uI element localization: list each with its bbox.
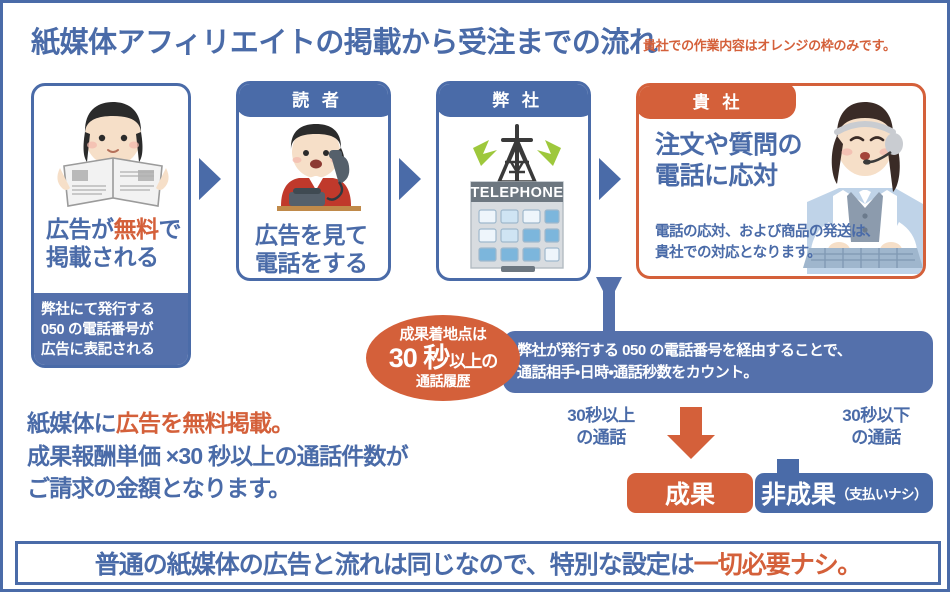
card-label-highlight: 無料 <box>114 216 159 242</box>
infographic-page: 紙媒体アフィリエイトの掲載から受注までの流れ 貴社での作業内容はオレンジの枠のみ… <box>0 0 950 592</box>
badge-line-2-small: 以上の <box>449 352 497 371</box>
card-ad-published-label: 広告が無料で 掲載される <box>46 216 186 271</box>
card-our-company: 弊 社 TELEPHONE <box>436 81 591 281</box>
card-desc-line-1: 電話の応対、および商品の発送は、 <box>655 222 921 243</box>
statement-line-1-pre: 紙媒体に <box>27 410 116 436</box>
badge-line-2: 30 秒以上の <box>389 343 498 373</box>
note-line-1: 弊社が発行する 050 の電話番号を経由することで、 <box>517 340 933 362</box>
card-reader-label-line1: 広告を見て <box>255 222 368 248</box>
down-arrow-icon-success <box>667 407 715 459</box>
card-reader-label-line2: 電話をする <box>255 250 368 276</box>
result-failure-pill-label: 非成果 <box>761 475 836 511</box>
footer-text-pre: 普通の紙媒体の広告と流れは同じなので、特別な設定は <box>95 551 694 579</box>
triangle-right-arrow-icon-2 <box>399 158 421 200</box>
card-your-company-label: 注文や質問の 電話に応対 <box>655 130 815 191</box>
woman-on-telephone-illustration <box>259 120 377 220</box>
triangle-right-arrow-icon-3 <box>599 158 621 200</box>
card-reader-header: 読 者 <box>236 81 391 117</box>
footer-text-highlight: 一切必要ナシ。 <box>694 551 862 579</box>
footer-banner: 普通の紙媒体の広告と流れは同じなので、特別な設定は一切必要ナシ。 <box>15 541 941 585</box>
card-our-company-header: 弊 社 <box>436 81 591 117</box>
result-failure-pill: 非成果（支払いナシ） <box>755 473 933 513</box>
svg-text:TELEPHONE: TELEPHONE <box>470 185 563 201</box>
card-label-line2: 掲載される <box>46 244 159 270</box>
page-subtitle: 貴社での作業内容はオレンジの枠のみです。 <box>643 35 896 54</box>
result-success-pill: 成果 <box>627 473 753 513</box>
card-your-company: 貴 社 <box>636 83 926 279</box>
statement-line-1: 紙媒体に広告を無料掲載。 <box>27 407 507 440</box>
card-your-company-label-line1: 注文や質問の <box>655 131 802 159</box>
summary-statement: 紙媒体に広告を無料掲載。 成果報酬単価 ×30 秒以上の通話件数が ご請求の金額… <box>27 407 507 505</box>
result-failure-pill-note: （支払いナシ） <box>836 483 927 503</box>
statement-line-3: ご請求の金額となります。 <box>27 472 507 505</box>
card-your-company-label-line2: 電話に応対 <box>655 162 778 190</box>
statement-line-1-highlight: 広告を無料掲載。 <box>116 410 294 436</box>
result-criteria-badge: 成果着地点は 30 秒以上の 通話履歴 <box>366 315 520 401</box>
page-title: 紙媒体アフィリエイトの掲載から受注までの流れ <box>31 19 657 61</box>
card-desc-line-2: 貴社での対応となります。 <box>655 243 921 264</box>
result-failure-condition: 30秒以下 の通話 <box>821 405 931 450</box>
badge-line-2-big: 30 秒 <box>389 343 450 373</box>
card-footer-line-2: 050 の電話番号が <box>41 320 191 340</box>
result-success-condition: 30秒以上 の通話 <box>546 405 656 450</box>
result-success-cond-line-1: 30秒以上 <box>546 405 656 427</box>
result-failure-cond-line-1: 30秒以下 <box>821 405 931 427</box>
card-footer-line-1: 弊社にて発行する <box>41 300 191 320</box>
card-ad-published: 広告が無料で 掲載される 弊社にて発行する 050 の電話番号が 広告に表記され… <box>31 83 191 368</box>
card-your-company-header: 貴 社 <box>636 83 796 119</box>
card-reader: 読 者 広告を見て 電話をする <box>236 81 391 281</box>
result-success-pill-label: 成果 <box>665 475 715 511</box>
card-your-company-description: 電話の応対、および商品の発送は、 貴社での対応となります。 <box>655 222 921 264</box>
card-label-pre: 広告が <box>46 216 114 242</box>
badge-line-3: 通話履歴 <box>416 374 470 389</box>
note-line-2: 通話相手・日時・通話秒数をカウント。 <box>517 362 933 384</box>
statement-line-2: 成果報酬単価 ×30 秒以上の通話件数が <box>27 440 507 473</box>
woman-reading-newspaper-illustration <box>46 94 180 212</box>
card-reader-label: 広告を見て 電話をする <box>255 222 385 277</box>
result-success-cond-line-2: の通話 <box>546 427 656 449</box>
triangle-right-arrow-icon-1 <box>199 158 221 200</box>
card-label-post: で <box>159 216 182 242</box>
footer-banner-text: 普通の紙媒体の広告と流れは同じなので、特別な設定は一切必要ナシ。 <box>95 545 862 581</box>
callout-pointer-up-icon <box>596 277 622 303</box>
card-ad-published-footer: 弊社にて発行する 050 の電話番号が 広告に表記される <box>31 293 191 368</box>
result-failure-cond-line-2: の通話 <box>821 427 931 449</box>
badge-line-1: 成果着地点は <box>399 327 486 344</box>
note-box: 弊社が発行する 050 の電話番号を経由することで、 通話相手・日時・通話秒数を… <box>503 331 933 393</box>
telephone-building-illustration: TELEPHONE <box>455 120 579 278</box>
card-footer-line-3: 広告に表記される <box>41 340 191 360</box>
